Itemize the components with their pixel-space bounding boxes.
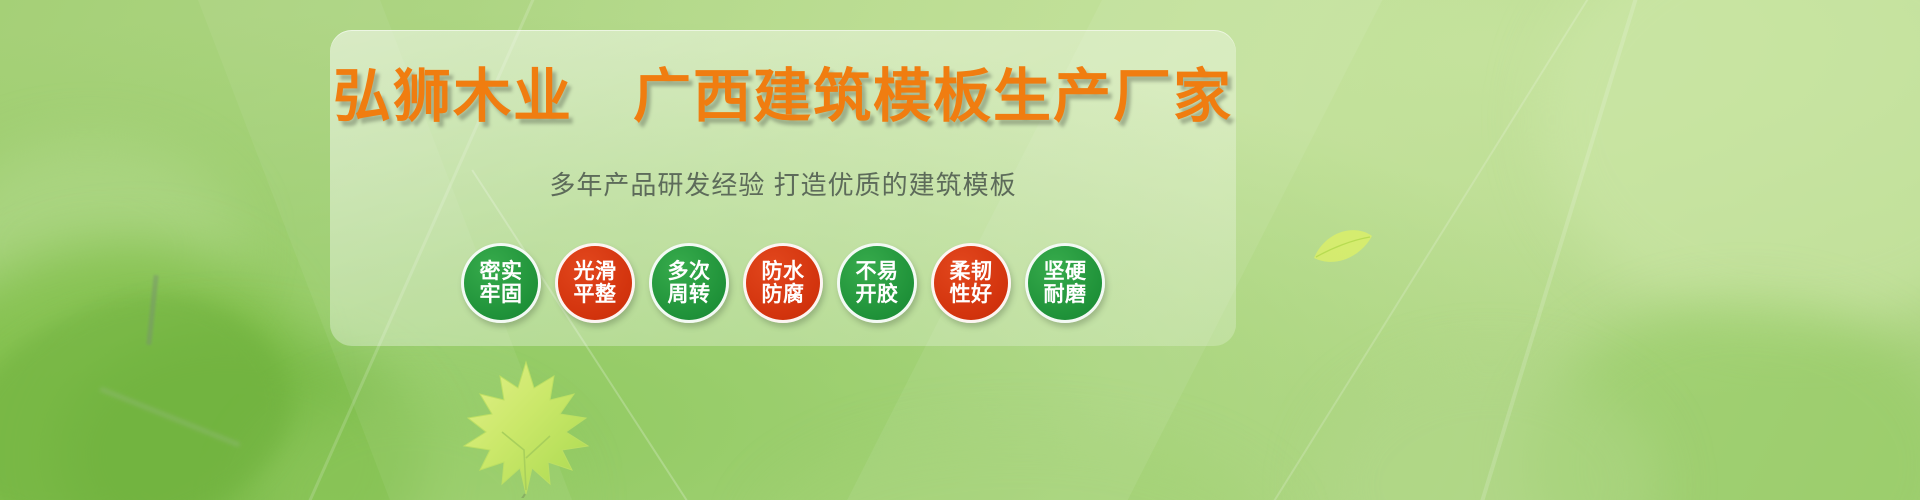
feature-badge[interactable]: 坚硬耐磨 <box>1025 243 1105 323</box>
feature-badge-line1: 坚硬 <box>1044 260 1087 283</box>
feature-badge-line2: 开胶 <box>856 283 899 306</box>
feature-badge-list: 密实牢固光滑平整多次周转防水防腐不易开胶柔韧性好坚硬耐磨 <box>330 233 1236 333</box>
leaf-icon <box>1312 228 1374 268</box>
feature-badge-line2: 性好 <box>950 283 993 306</box>
feature-badge[interactable]: 光滑平整 <box>555 243 635 323</box>
maple-leaf-icon <box>462 358 592 498</box>
promo-banner: 弘狮木业 广西建筑模板生产厂家 多年产品研发经验 打造优质的建筑模板 密实牢固光… <box>0 0 1920 500</box>
feature-badge-line1: 不易 <box>856 260 899 283</box>
feature-badge-line2: 牢固 <box>480 283 523 306</box>
feature-badge-line1: 多次 <box>668 260 711 283</box>
feature-badge-line2: 耐磨 <box>1044 283 1087 306</box>
feature-badge-line1: 密实 <box>480 260 523 283</box>
feature-badge-line1: 柔韧 <box>950 260 993 283</box>
feature-badge[interactable]: 柔韧性好 <box>931 243 1011 323</box>
feature-badge-line1: 防水 <box>762 260 805 283</box>
feature-badge[interactable]: 多次周转 <box>649 243 729 323</box>
feature-badge[interactable]: 密实牢固 <box>461 243 541 323</box>
page-subtitle: 多年产品研发经验 打造优质的建筑模板 <box>330 168 1236 202</box>
feature-badge-line2: 周转 <box>668 283 711 306</box>
feature-badge-line2: 防腐 <box>762 283 805 306</box>
feature-badge-line2: 平整 <box>574 283 617 306</box>
feature-badge-line1: 光滑 <box>574 260 617 283</box>
page-title: 弘狮木业 广西建筑模板生产厂家 <box>330 62 1236 132</box>
feature-badge[interactable]: 不易开胶 <box>837 243 917 323</box>
feature-badge[interactable]: 防水防腐 <box>743 243 823 323</box>
